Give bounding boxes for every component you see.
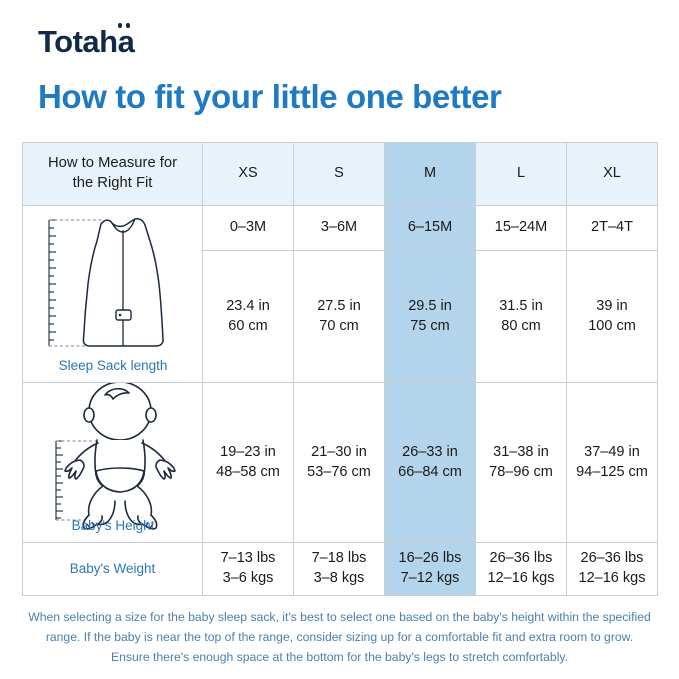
cell-length-m-in: 29.5 in: [385, 297, 475, 317]
table-body: Sleep Sack length 0–3M 3–6M 6–15M 15–24M…: [23, 206, 658, 596]
cell-height-m-cm: 66–84 cm: [385, 463, 475, 483]
cell-weight-s-lbs: 7–18 lbs: [294, 549, 384, 569]
cell-weight-l-lbs: 26–36 lbs: [476, 549, 566, 569]
cell-age-xs: 0–3M: [203, 206, 294, 251]
ruler-icon: [49, 220, 56, 346]
cell-weight-s: 7–18 lbs 3–8 kgs: [294, 543, 385, 596]
baby-weight-label: Baby's Weight: [23, 560, 202, 578]
column-header-measure: How to Measure for the Right Fit: [23, 143, 203, 206]
cell-length-m: 29.5 in 75 cm: [385, 251, 476, 383]
baby-height-label: Baby's Height: [23, 517, 203, 535]
cell-weight-xl-lbs: 26–36 lbs: [567, 549, 657, 569]
table-row-baby-height: Baby's Height 19–23 in 48–58 cm 21–30 in…: [23, 383, 658, 543]
cell-height-xl: 37–49 in 94–125 cm: [567, 383, 658, 543]
cell-weight-xl-kgs: 12–16 kgs: [567, 569, 657, 589]
cell-height-s: 21–30 in 53–76 cm: [294, 383, 385, 543]
brand-name-main: Totah: [38, 24, 118, 59]
column-header-size-xl: XL: [567, 143, 658, 206]
row-label-baby-weight: Baby's Weight: [23, 543, 203, 596]
baby-illustration-cell: Baby's Height: [23, 383, 203, 543]
disclaimer-line-3: Ensure there's enough space at the botto…: [22, 648, 657, 668]
cell-length-l-in: 31.5 in: [476, 297, 566, 317]
cell-height-s-cm: 53–76 cm: [294, 463, 384, 483]
cell-length-xs-in: 23.4 in: [203, 297, 293, 317]
baby-figure: [65, 383, 175, 529]
cell-weight-xs-lbs: 7–13 lbs: [203, 549, 293, 569]
cell-length-l-cm: 80 cm: [476, 317, 566, 337]
cell-height-xs-cm: 48–58 cm: [203, 463, 293, 483]
cell-height-m: 26–33 in 66–84 cm: [385, 383, 476, 543]
cell-height-l-cm: 78–96 cm: [476, 463, 566, 483]
cell-age-xl: 2T–4T: [567, 206, 658, 251]
size-chart-page: Totaha How to fit your little one better…: [0, 0, 679, 679]
column-header-size-xs: XS: [203, 143, 294, 206]
cell-height-l: 31–38 in 78–96 cm: [476, 383, 567, 543]
cell-height-xl-in: 37–49 in: [567, 443, 657, 463]
disclaimer-line-2: range. If the baby is near the top of th…: [22, 628, 657, 648]
zipper-pull-icon: [116, 310, 131, 320]
cell-length-xl-in: 39 in: [567, 297, 657, 317]
cell-weight-l: 26–36 lbs 12–16 kgs: [476, 543, 567, 596]
cell-age-s: 3–6M: [294, 206, 385, 251]
table-header: How to Measure for the Right Fit XS S M …: [23, 143, 658, 206]
cell-weight-xs: 7–13 lbs 3–6 kgs: [203, 543, 294, 596]
sizing-disclaimer: When selecting a size for the baby sleep…: [22, 608, 657, 667]
cell-length-xl-cm: 100 cm: [567, 317, 657, 337]
measure-header-line2: the Right Fit: [37, 174, 188, 194]
cell-weight-m-lbs: 16–26 lbs: [385, 549, 475, 569]
cell-length-xs-cm: 60 cm: [203, 317, 293, 337]
column-header-size-l: L: [476, 143, 567, 206]
cell-length-xl: 39 in 100 cm: [567, 251, 658, 383]
cell-weight-m-kgs: 7–12 kgs: [385, 569, 475, 589]
cell-length-xs: 23.4 in 60 cm: [203, 251, 294, 383]
cell-length-s: 27.5 in 70 cm: [294, 251, 385, 383]
cell-age-l: 15–24M: [476, 206, 567, 251]
cell-length-m-cm: 75 cm: [385, 317, 475, 337]
size-chart-table-container: How to Measure for the Right Fit XS S M …: [22, 142, 657, 595]
cell-weight-xl: 26–36 lbs 12–16 kgs: [567, 543, 658, 596]
cell-height-s-in: 21–30 in: [294, 443, 384, 463]
cell-height-xl-cm: 94–125 cm: [567, 463, 657, 483]
sleep-sack-illustration: [23, 206, 203, 358]
cell-length-s-in: 27.5 in: [294, 297, 384, 317]
table-row-age: Sleep Sack length 0–3M 3–6M 6–15M 15–24M…: [23, 206, 658, 251]
cell-weight-s-kgs: 3–8 kgs: [294, 569, 384, 589]
cell-weight-m: 16–26 lbs 7–12 kgs: [385, 543, 476, 596]
measure-header-line1: How to Measure for: [37, 154, 188, 174]
cell-height-xs-in: 19–23 in: [203, 443, 293, 463]
column-header-size-s: S: [294, 143, 385, 206]
page-title: How to fit your little one better: [38, 78, 501, 116]
ruler-icon: [56, 441, 63, 520]
disclaimer-line-1: When selecting a size for the baby sleep…: [22, 608, 657, 628]
cell-height-xs: 19–23 in 48–58 cm: [203, 383, 294, 543]
brand-name-umlaut-a: a: [118, 26, 135, 57]
cell-weight-xs-kgs: 3–6 kgs: [203, 569, 293, 589]
table-row-baby-weight: Baby's Weight 7–13 lbs 3–6 kgs 7–18 lbs …: [23, 543, 658, 596]
brand-logo: Totaha: [38, 26, 134, 57]
cell-age-m: 6–15M: [385, 206, 476, 251]
cell-length-s-cm: 70 cm: [294, 317, 384, 337]
cell-weight-l-kgs: 12–16 kgs: [476, 569, 566, 589]
sleep-sack-illustration-cell: Sleep Sack length: [23, 206, 203, 383]
size-chart-table: How to Measure for the Right Fit XS S M …: [22, 142, 658, 596]
column-header-size-m: M: [385, 143, 476, 206]
table-header-row: How to Measure for the Right Fit XS S M …: [23, 143, 658, 206]
cell-length-l: 31.5 in 80 cm: [476, 251, 567, 383]
sleep-sack-length-label: Sleep Sack length: [23, 357, 203, 375]
cell-height-l-in: 31–38 in: [476, 443, 566, 463]
cell-height-m-in: 26–33 in: [385, 443, 475, 463]
